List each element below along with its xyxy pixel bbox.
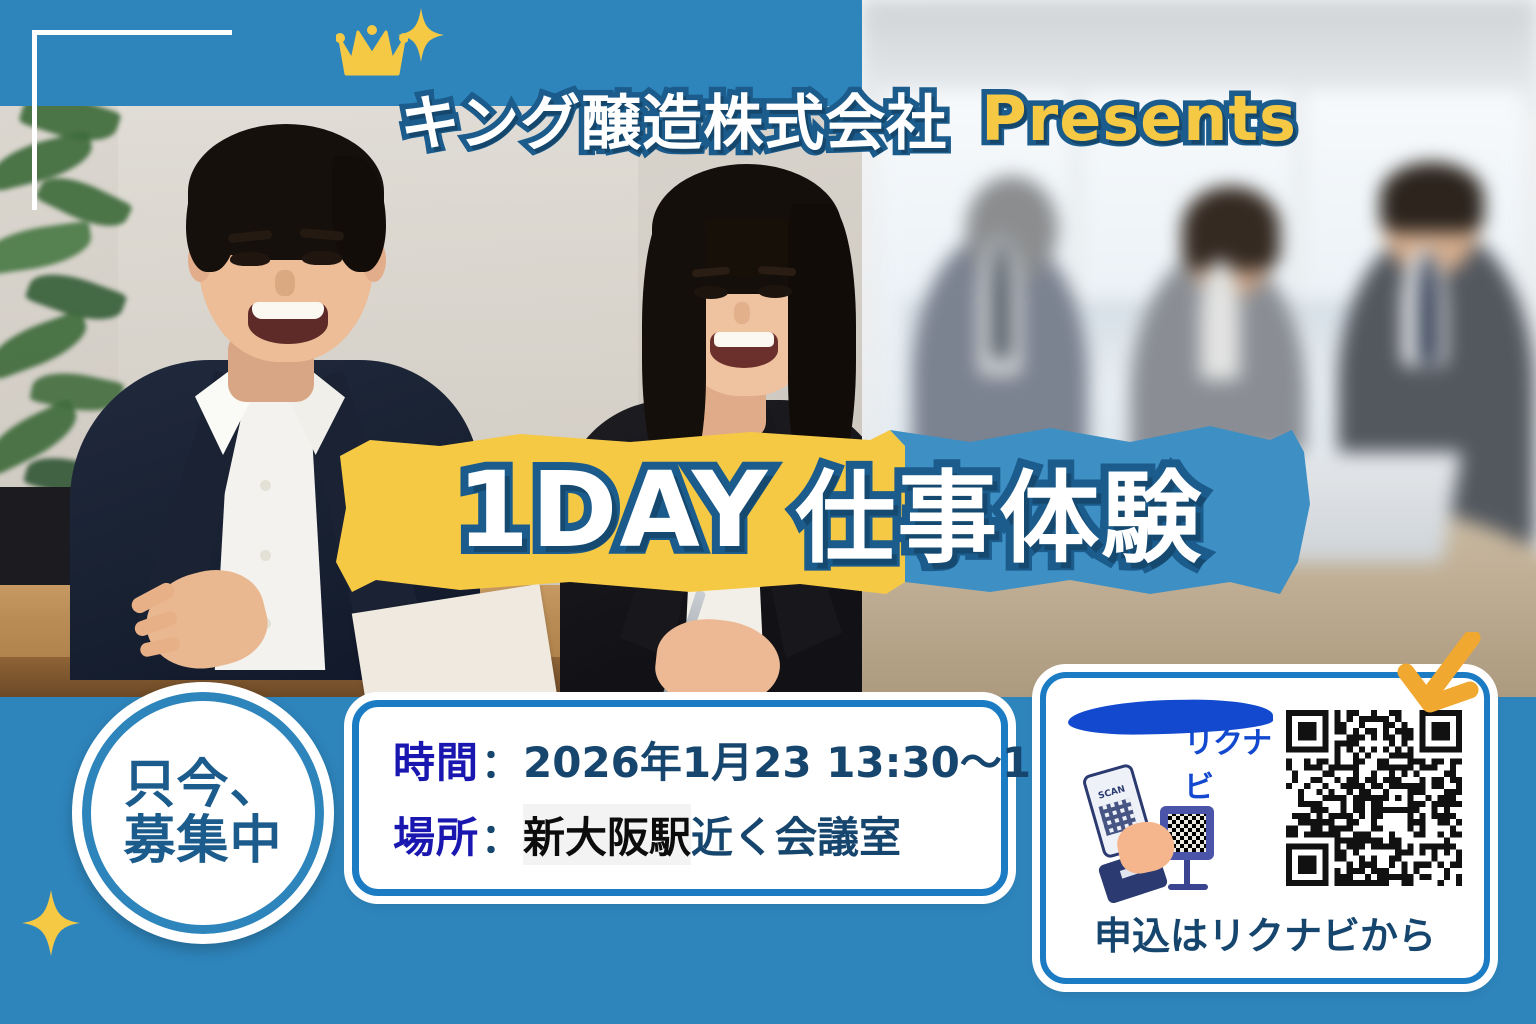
info-row-time: 時間 ： 2026年1月23 13:30～16:30 [393, 729, 1001, 790]
presents-label: Presents [981, 82, 1297, 155]
recruiting-badge: 只今、 募集中 [72, 682, 334, 944]
sparkle-icon [22, 890, 80, 956]
rikunavi-logo: リクナビ [1068, 696, 1288, 752]
badge-line-1: 只今、 [123, 757, 282, 813]
scan-illustration: SCAN [1084, 768, 1224, 896]
time-label: 時間 [393, 729, 479, 790]
company-name: キング醸造株式会社 [400, 75, 947, 162]
main-banner: 1DAY 仕事体験 [330, 412, 1330, 607]
banner-prefix: 1DAY [457, 449, 770, 571]
qr-caption: 申込はリクナビから [1046, 905, 1484, 960]
place-label: 場所 [393, 804, 479, 865]
banner-main: 仕事体験 [795, 437, 1203, 582]
corner-bracket-decoration [32, 30, 232, 210]
poster-root: キング醸造株式会社 Presents 1DAY 仕事体験 只今、 募集中 時間 … [0, 0, 1536, 1024]
banner-text: 1DAY 仕事体験 [330, 412, 1330, 607]
place-station: 新大阪駅 [523, 804, 691, 865]
event-info-box: 時間 ： 2026年1月23 13:30～16:30 場所 ： 新大阪駅 近く会… [352, 700, 1008, 896]
sparkle-icon [398, 8, 444, 62]
badge-line-2: 募集中 [123, 813, 282, 869]
time-colon: ： [481, 731, 521, 789]
arrow-down-icon [1386, 632, 1496, 742]
info-row-place: 場所 ： 新大阪駅 近く会議室 [393, 804, 1001, 865]
place-value: 近く会議室 [691, 804, 901, 865]
headline: キング醸造株式会社 Presents [400, 78, 1410, 158]
place-colon: ： [481, 806, 521, 864]
